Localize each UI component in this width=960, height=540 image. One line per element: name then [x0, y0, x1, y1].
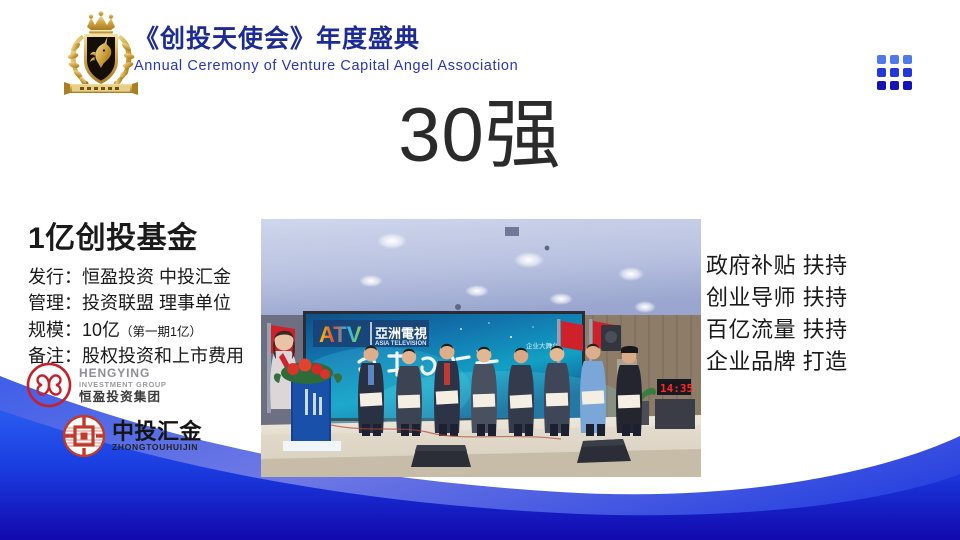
grid-dot	[890, 68, 899, 77]
page-title: 30强	[0, 98, 960, 174]
benefit-item: 创业导师 扶持	[706, 282, 848, 314]
benefit-item: 政府补贴 扶持	[706, 250, 848, 282]
fund-detail-note: （第一期1亿）	[120, 325, 202, 339]
svg-text:14:35: 14:35	[660, 382, 693, 395]
grid-dot	[890, 55, 899, 64]
fund-info-panel: 1亿创投基金 发行：恒盈投资 中投汇金 管理：投资联盟 理事单位 规模：10亿（…	[28, 222, 264, 370]
fund-detail-row: 管理：投资联盟 理事单位	[28, 290, 264, 317]
header-text-block: 《创投天使会》年度盛典 Annual Ceremony of Venture C…	[134, 25, 518, 76]
benefits-panel: 政府补贴 扶持 创业导师 扶持 百亿流量 扶持 企业品牌 打造	[706, 250, 848, 378]
hengying-logo: HENGYING INVESTMENT GROUP 恒盈投资集团	[26, 362, 241, 408]
grid-dot	[890, 81, 899, 90]
fund-title: 1亿创投基金	[28, 222, 264, 257]
hengying-subtitle-english: INVESTMENT GROUP	[79, 381, 167, 389]
slide-header: 《创投天使会》年度盛典 Annual Ceremony of Venture C…	[0, 0, 960, 105]
grid-dot	[877, 68, 886, 77]
svg-text:亞洲電視: 亞洲電視	[375, 326, 427, 342]
benefit-item: 百亿流量 扶持	[706, 314, 848, 346]
fund-detail-row: 发行：恒盈投资 中投汇金	[28, 264, 264, 291]
grid-dot	[877, 55, 886, 64]
sponsor-logos: HENGYING INVESTMENT GROUP 恒盈投资集团	[26, 362, 241, 458]
ceremony-photo: ATV 亞洲電視 ASIA TELEVISION 企业大舞台	[261, 219, 701, 477]
dot-grid-decoration-icon	[877, 55, 912, 90]
hengying-name-english: HENGYING	[79, 367, 167, 380]
svg-text:ASIA TELEVISION: ASIA TELEVISION	[375, 341, 426, 347]
fund-detail-label: 管理：	[28, 293, 82, 313]
grid-dot	[903, 81, 912, 90]
fund-detail-value: 恒盈投资 中投汇金	[82, 267, 231, 287]
hengying-text-block: HENGYING INVESTMENT GROUP 恒盈投资集团	[79, 367, 167, 403]
header-title-english: Annual Ceremony of Venture Capital Angel…	[134, 57, 518, 76]
fund-detail-row: 规模：10亿（第一期1亿）	[28, 317, 264, 344]
fund-detail-label: 规模：	[28, 320, 82, 340]
fund-detail-value: 10亿	[82, 320, 120, 340]
grid-dot	[877, 81, 886, 90]
hengying-knot-icon	[26, 362, 72, 408]
fund-detail-value: 投资联盟 理事单位	[82, 293, 231, 313]
fund-detail-label: 发行：	[28, 267, 82, 287]
slide-canvas: 《创投天使会》年度盛典 Annual Ceremony of Venture C…	[0, 0, 960, 540]
zhongtouhuijin-text-block: 中投汇金 ZHONGTOUHUIJIN	[112, 420, 202, 452]
zhongtouhuijin-logo: 中投汇金 ZHONGTOUHUIJIN	[62, 414, 241, 458]
zhongtouhuijin-coin-icon	[62, 414, 106, 458]
hengying-name-chinese: 恒盈投资集团	[79, 390, 167, 403]
svg-text:ATV: ATV	[319, 322, 362, 347]
grid-dot	[903, 55, 912, 64]
venture-capital-angel-association-emblem-icon	[58, 11, 144, 97]
zhongtouhuijin-name-chinese: 中投汇金	[112, 420, 202, 443]
header-title-chinese: 《创投天使会》年度盛典	[134, 25, 518, 54]
benefit-item: 企业品牌 打造	[706, 346, 848, 378]
grid-dot	[903, 68, 912, 77]
zhongtouhuijin-name-english: ZHONGTOUHUIJIN	[112, 443, 202, 452]
